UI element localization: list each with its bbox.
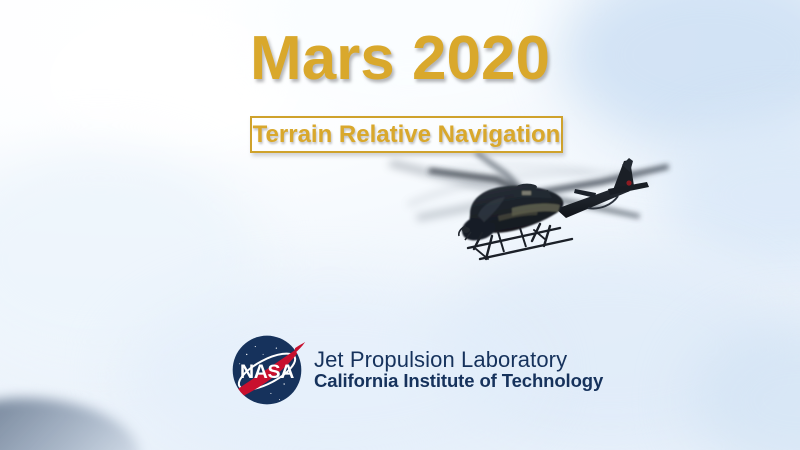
jpl-title: Jet Propulsion Laboratory [314,349,603,371]
title-card: Mars 2020 Terrain Relative Navigation [0,0,800,450]
nasa-meatball-logo: NASA [228,331,306,409]
subtitle-box: Terrain Relative Navigation [250,116,563,153]
title-container: Mars 2020 [0,28,800,90]
subtitle-text: Terrain Relative Navigation [253,123,561,147]
page-title: Mars 2020 [0,28,800,90]
logo-block: NASA Jet Propulsion Laboratory Californi… [228,331,603,409]
nasa-wordmark: NASA [240,361,294,383]
caltech-subtitle: California Institute of Technology [314,372,603,391]
jpl-text-block: Jet Propulsion Laboratory California Ins… [314,349,603,391]
